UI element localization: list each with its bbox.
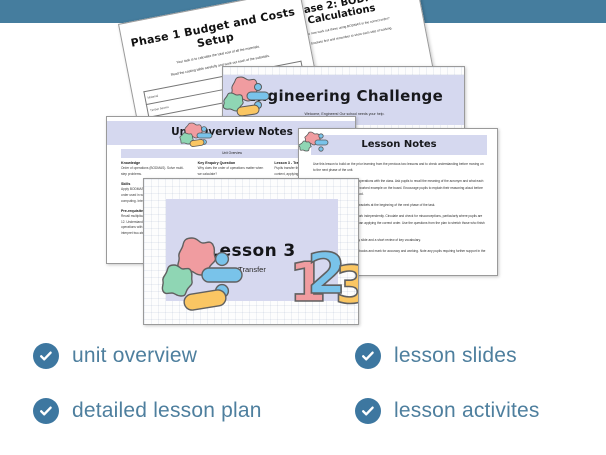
check-circle-icon — [355, 343, 381, 369]
checklist-item-detailed-lesson-plan[interactable]: detailed lesson plan — [33, 398, 262, 424]
minus-symbol — [183, 289, 227, 311]
promo-graphic: Phase 1 Budget and Costs Setup Your task… — [0, 0, 606, 455]
unit-heading-knowledge: Knowledge — [121, 161, 190, 165]
notes-paragraph: Use this lesson to build on the prior le… — [313, 161, 487, 173]
checklist-label: unit overview — [72, 344, 197, 368]
number-cluster: 1 2 3 — [287, 245, 359, 311]
check-circle-icon — [33, 398, 59, 424]
checklist-label: lesson slides — [394, 344, 517, 368]
flower-icon — [358, 185, 359, 208]
checklist-label: detailed lesson plan — [72, 399, 262, 423]
check-circle-icon — [355, 398, 381, 424]
flower-paperclip — [356, 184, 359, 246]
unit-text-enquiry: Why does the order of operations matter … — [198, 166, 267, 178]
plus-symbol — [162, 265, 192, 296]
math-symbol-cluster — [225, 75, 271, 117]
checklist-item-unit-overview[interactable]: unit overview — [33, 343, 197, 369]
feature-checklist: unit overview detailed lesson plan lesso… — [0, 336, 606, 455]
unit-heading-enquiry: Key Enquiry Question — [198, 161, 267, 165]
number-three: 3 — [335, 256, 359, 316]
unit-text-knowledge: Order of operations (BODMAS). Solve mult… — [121, 166, 190, 178]
math-symbol-cluster-left — [162, 235, 248, 313]
divide-symbol — [202, 268, 242, 282]
math-symbol-cluster — [301, 131, 329, 155]
checklist-item-lesson-slides[interactable]: lesson slides — [355, 343, 517, 369]
lesson3-slide: Lesson 3 Transfer 1 2 3 — [143, 178, 359, 325]
lesson-notes-title: Lesson Notes — [311, 139, 487, 150]
math-symbol-cluster — [181, 122, 213, 148]
checklist-label: lesson activites — [394, 399, 540, 423]
checklist-item-lesson-activities[interactable]: lesson activites — [355, 398, 540, 424]
check-circle-icon — [33, 343, 59, 369]
